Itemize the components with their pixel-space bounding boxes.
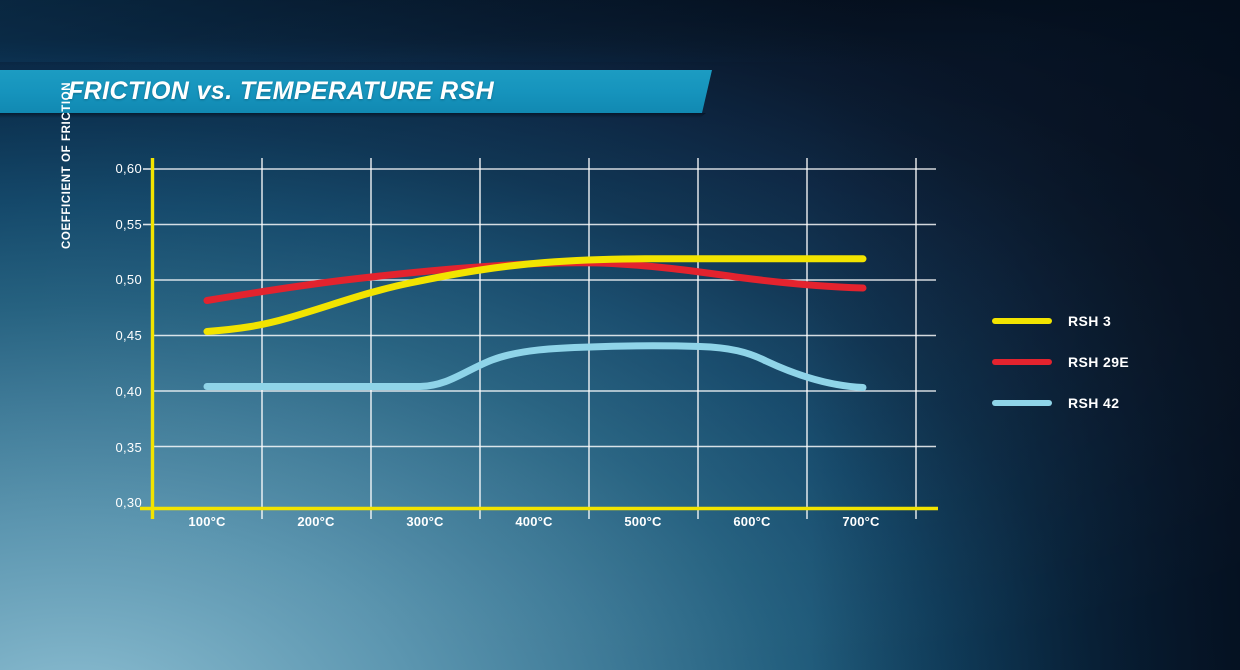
x-tick-label-4: 500°C	[598, 514, 688, 529]
legend-item-rsh-3: RSH 3	[992, 300, 1202, 341]
y-tick-label-1: 0,55	[96, 217, 142, 232]
legend-label-rsh-42: RSH 42	[1068, 395, 1119, 411]
x-tick-label-3: 400°C	[489, 514, 579, 529]
legend-swatch-rsh-29e	[992, 359, 1052, 365]
x-tick-label-2: 300°C	[380, 514, 470, 529]
legend-swatch-rsh-42	[992, 400, 1052, 406]
x-tick-label-1: 200°C	[271, 514, 361, 529]
y-tick-label-6: 0,30	[96, 495, 142, 510]
series-line-rsh-3	[207, 259, 863, 332]
x-tick-label-6: 700°C	[816, 514, 906, 529]
legend-item-rsh-29e: RSH 29E	[992, 341, 1202, 382]
y-tick-label-5: 0,35	[96, 440, 142, 455]
y-tick-label-4: 0,40	[96, 384, 142, 399]
grid-horizontal	[152, 169, 936, 447]
chart-legend: RSH 3 RSH 29E RSH 42	[992, 300, 1202, 423]
legend-label-rsh-29e: RSH 29E	[1068, 354, 1129, 370]
legend-item-rsh-42: RSH 42	[992, 382, 1202, 423]
legend-swatch-rsh-3	[992, 318, 1052, 324]
grid-vertical	[262, 158, 916, 519]
chart-screenshot: FRICTION vs. TEMPERATURE RSH	[0, 0, 1240, 670]
y-tick-label-3: 0,45	[96, 328, 142, 343]
legend-label-rsh-3: RSH 3	[1068, 313, 1111, 329]
y-tick-marks	[143, 169, 152, 225]
y-tick-label-0: 0,60	[96, 161, 142, 176]
series-line-rsh-29e	[207, 263, 863, 301]
series-line-rsh-42	[207, 346, 863, 388]
y-tick-label-2: 0,50	[96, 272, 142, 287]
x-tick-label-5: 600°C	[707, 514, 797, 529]
x-tick-label-0: 100°C	[162, 514, 252, 529]
y-axis-title: COEFFICIENT OF FRICTION	[61, 59, 73, 249]
